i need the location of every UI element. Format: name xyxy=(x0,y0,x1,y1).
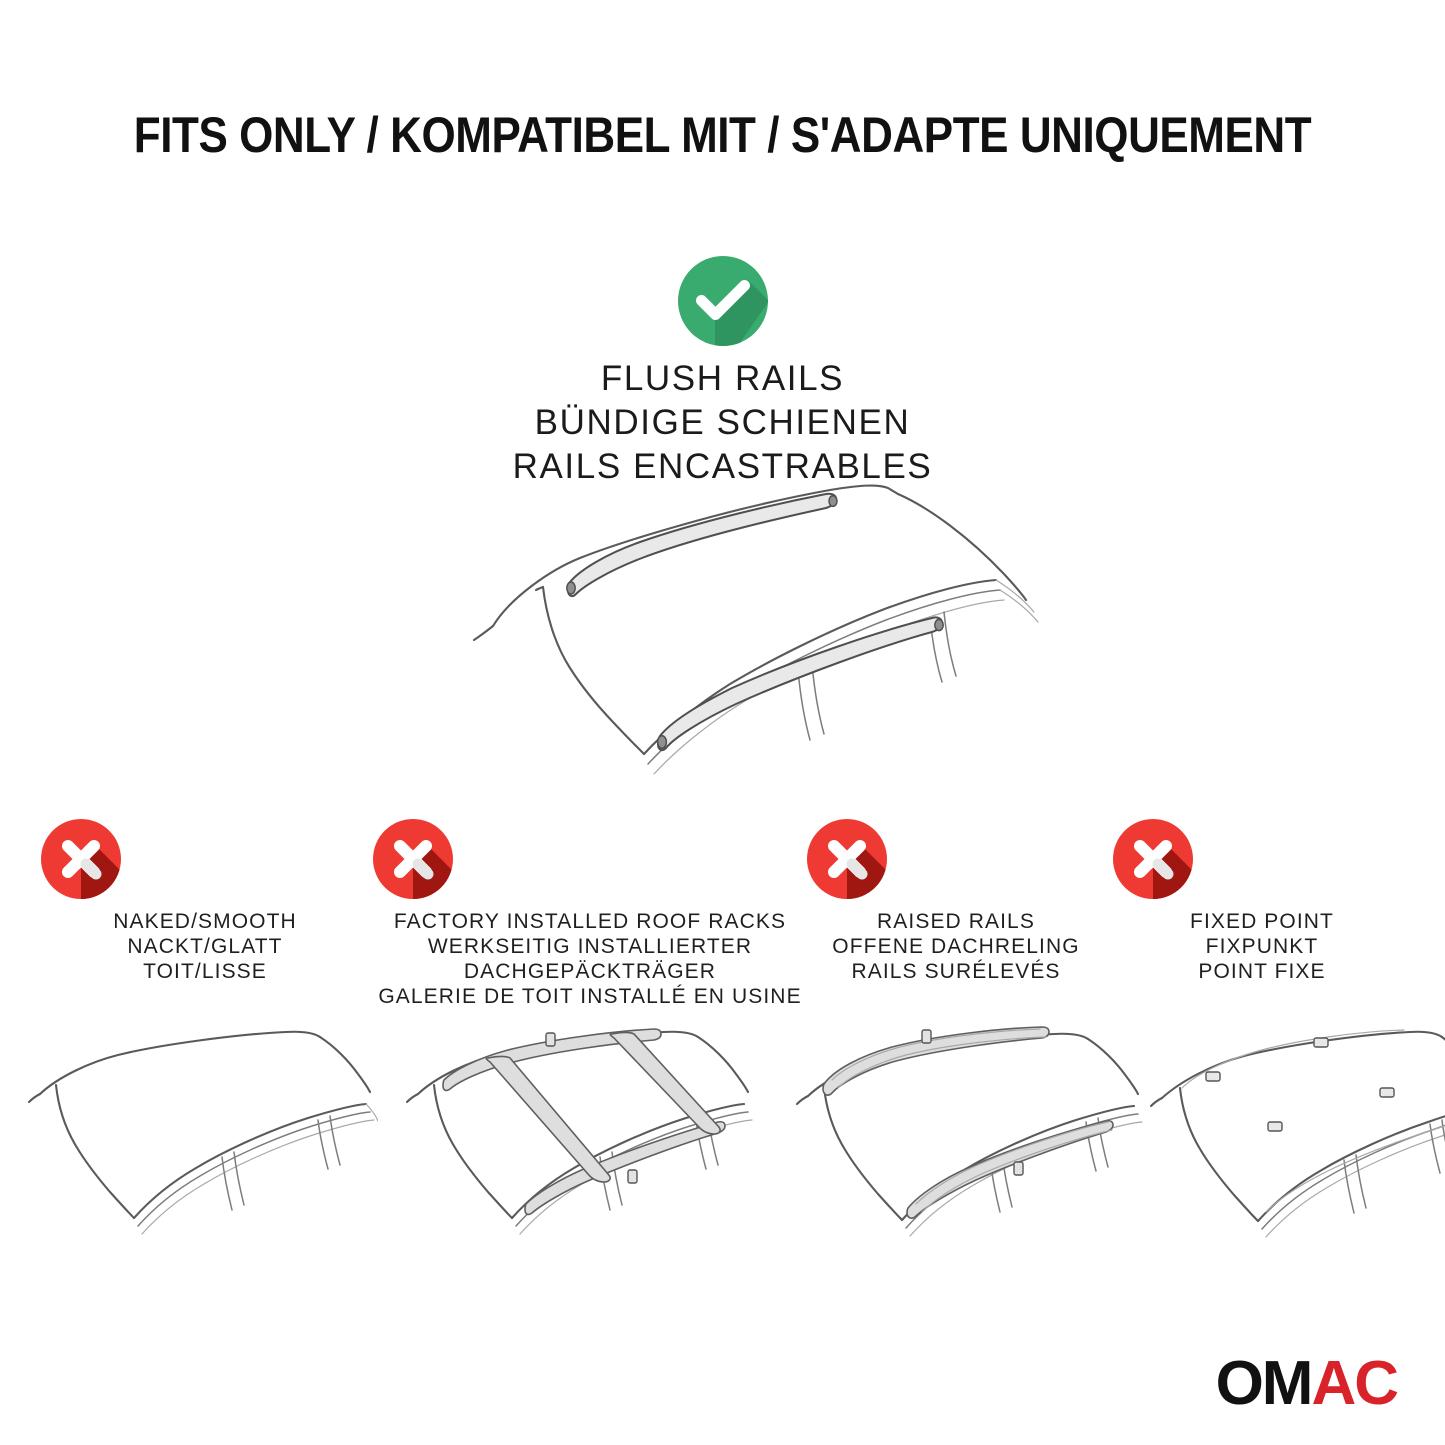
logo-text-red: AC xyxy=(1311,1349,1397,1418)
label-line-en: FACTORY INSTALLED ROOF RACKS xyxy=(372,909,808,934)
label-line-de-2: DACHGEPÄCKTRÄGER xyxy=(372,959,808,984)
incompatible-item-naked-smooth: NAKED/SMOOTH NACKT/GLATT TOIT/LISSE xyxy=(40,818,370,984)
red-x-circle-icon xyxy=(806,818,1106,900)
compatible-label-de: BÜNDIGE SCHIENEN xyxy=(0,401,1445,445)
label-line-en: RAISED RAILS xyxy=(806,909,1106,934)
label-line-fr: RAILS SURÉLEVÉS xyxy=(806,959,1106,984)
car-roof-factory-racks-illustration xyxy=(400,1022,760,1252)
car-roof-raised-rails-illustration xyxy=(788,1022,1148,1252)
incompatible-labels: FACTORY INSTALLED ROOF RACKS WERKSEITIG … xyxy=(372,909,808,1009)
incompatible-item-factory-racks: FACTORY INSTALLED ROOF RACKS WERKSEITIG … xyxy=(372,818,808,1009)
compatible-label-en: FLUSH RAILS xyxy=(0,357,1445,401)
compatible-section: FLUSH RAILS BÜNDIGE SCHIENEN RAILS ENCAS… xyxy=(0,255,1445,489)
label-line-fr: TOIT/LISSE xyxy=(40,959,370,984)
omac-logo: OMAC xyxy=(1216,1353,1397,1415)
incompatible-labels: NAKED/SMOOTH NACKT/GLATT TOIT/LISSE xyxy=(40,909,370,984)
car-roof-fixed-point-illustration xyxy=(1128,1022,1445,1252)
incompatible-labels: FIXED POINT FIXPUNKT POINT FIXE xyxy=(1112,909,1412,984)
car-roof-naked-illustration xyxy=(18,1022,378,1252)
red-x-circle-icon xyxy=(1112,818,1412,900)
label-line-fr: GALERIE DE TOIT INSTALLÉ EN USINE xyxy=(372,984,808,1009)
label-line-en: FIXED POINT xyxy=(1112,909,1412,934)
label-line-de: NACKT/GLATT xyxy=(40,934,370,959)
label-line-fr: POINT FIXE xyxy=(1112,959,1412,984)
roof-type-illustrations xyxy=(0,1022,1445,1252)
incompatible-labels: RAISED RAILS OFFENE DACHRELING RAILS SUR… xyxy=(806,909,1106,984)
logo-text-dark: OM xyxy=(1216,1349,1312,1418)
red-x-circle-icon xyxy=(372,818,808,900)
green-check-circle-icon xyxy=(677,255,769,347)
red-x-circle-icon xyxy=(40,818,370,900)
label-line-de: FIXPUNKT xyxy=(1112,934,1412,959)
incompatible-item-raised-rails: RAISED RAILS OFFENE DACHRELING RAILS SUR… xyxy=(806,818,1106,984)
page-title: FITS ONLY / KOMPATIBEL MIT / S'ADAPTE UN… xyxy=(87,106,1359,164)
car-roof-flush-rails-illustration xyxy=(430,478,1050,778)
incompatible-item-fixed-point: FIXED POINT FIXPUNKT POINT FIXE xyxy=(1112,818,1412,984)
compatible-labels: FLUSH RAILS BÜNDIGE SCHIENEN RAILS ENCAS… xyxy=(0,357,1445,489)
label-line-en: NAKED/SMOOTH xyxy=(40,909,370,934)
label-line-de-1: WERKSEITIG INSTALLIERTER xyxy=(372,934,808,959)
label-line-de: OFFENE DACHRELING xyxy=(806,934,1106,959)
